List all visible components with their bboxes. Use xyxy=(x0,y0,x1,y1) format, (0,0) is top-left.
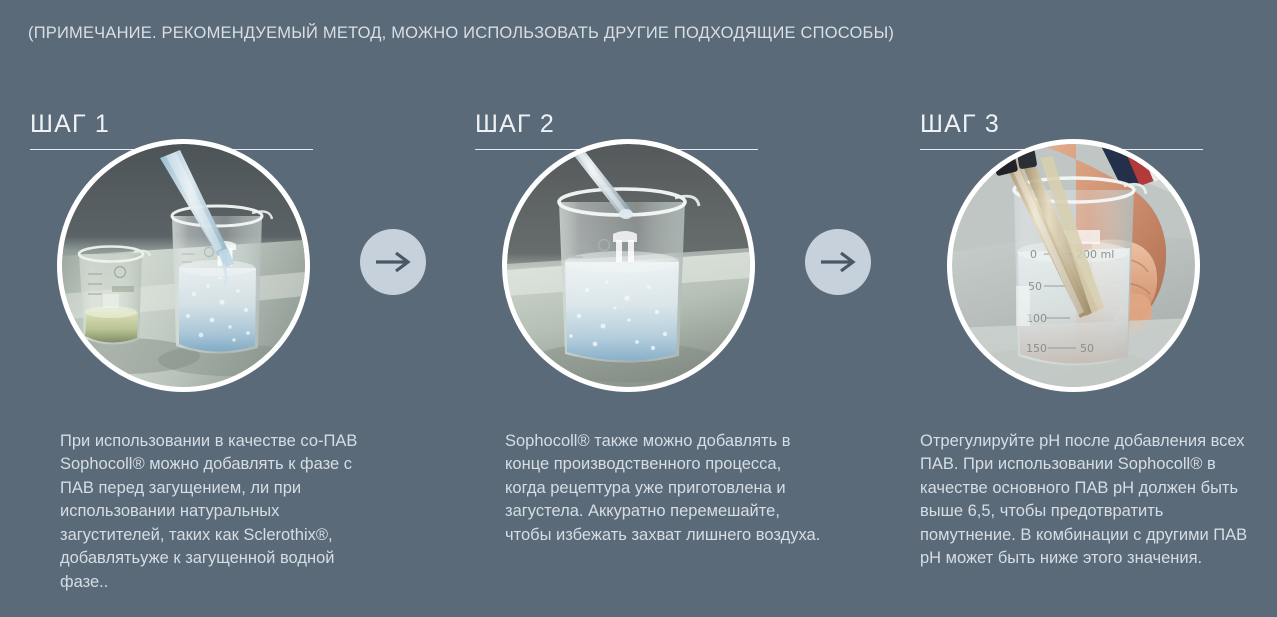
step-column-3: ШАГ 3 xyxy=(890,0,1250,617)
step-2-title: ШАГ 2 xyxy=(475,110,555,139)
step-2-body: Sophocoll® также можно добавлять в конце… xyxy=(505,430,825,547)
step-3-photo-frame: 0 200 ml 50 100 150 50 xyxy=(947,139,1200,392)
step-2-photo-frame xyxy=(502,139,755,392)
step-3-title: ШАГ 3 xyxy=(920,110,1000,139)
svg-text:50: 50 xyxy=(1080,342,1094,355)
step-column-2: ШАГ 2 xyxy=(445,0,805,617)
step-1-title: ШАГ 1 xyxy=(30,110,110,139)
arrow-right-icon xyxy=(819,249,857,275)
svg-text:0: 0 xyxy=(1030,248,1037,261)
step-1-photo-frame xyxy=(57,139,310,392)
arrow-right-icon xyxy=(374,249,412,275)
two-beakers-with-pipette-photo xyxy=(62,144,305,387)
svg-text:50: 50 xyxy=(1028,280,1042,293)
step-arrow-2 xyxy=(805,229,871,295)
step-arrow-1 xyxy=(360,229,426,295)
step-1-body: При использовании в качестве со-ПАВ Soph… xyxy=(60,430,380,594)
beaker-with-stirring-rod-photo xyxy=(507,144,750,387)
step-column-1: ШАГ 1 xyxy=(0,0,360,617)
slide-canvas: (ПРИМЕЧАНИЕ. РЕКОМЕНДУЕМЫЙ МЕТОД, МОЖНО … xyxy=(0,0,1277,617)
svg-text:150: 150 xyxy=(1026,342,1047,355)
step-3-body: Отрегулируйте pH после добавления всех П… xyxy=(920,430,1258,571)
hand-holding-beaker-with-ph-electrode-photo: 0 200 ml 50 100 150 50 xyxy=(952,144,1195,387)
